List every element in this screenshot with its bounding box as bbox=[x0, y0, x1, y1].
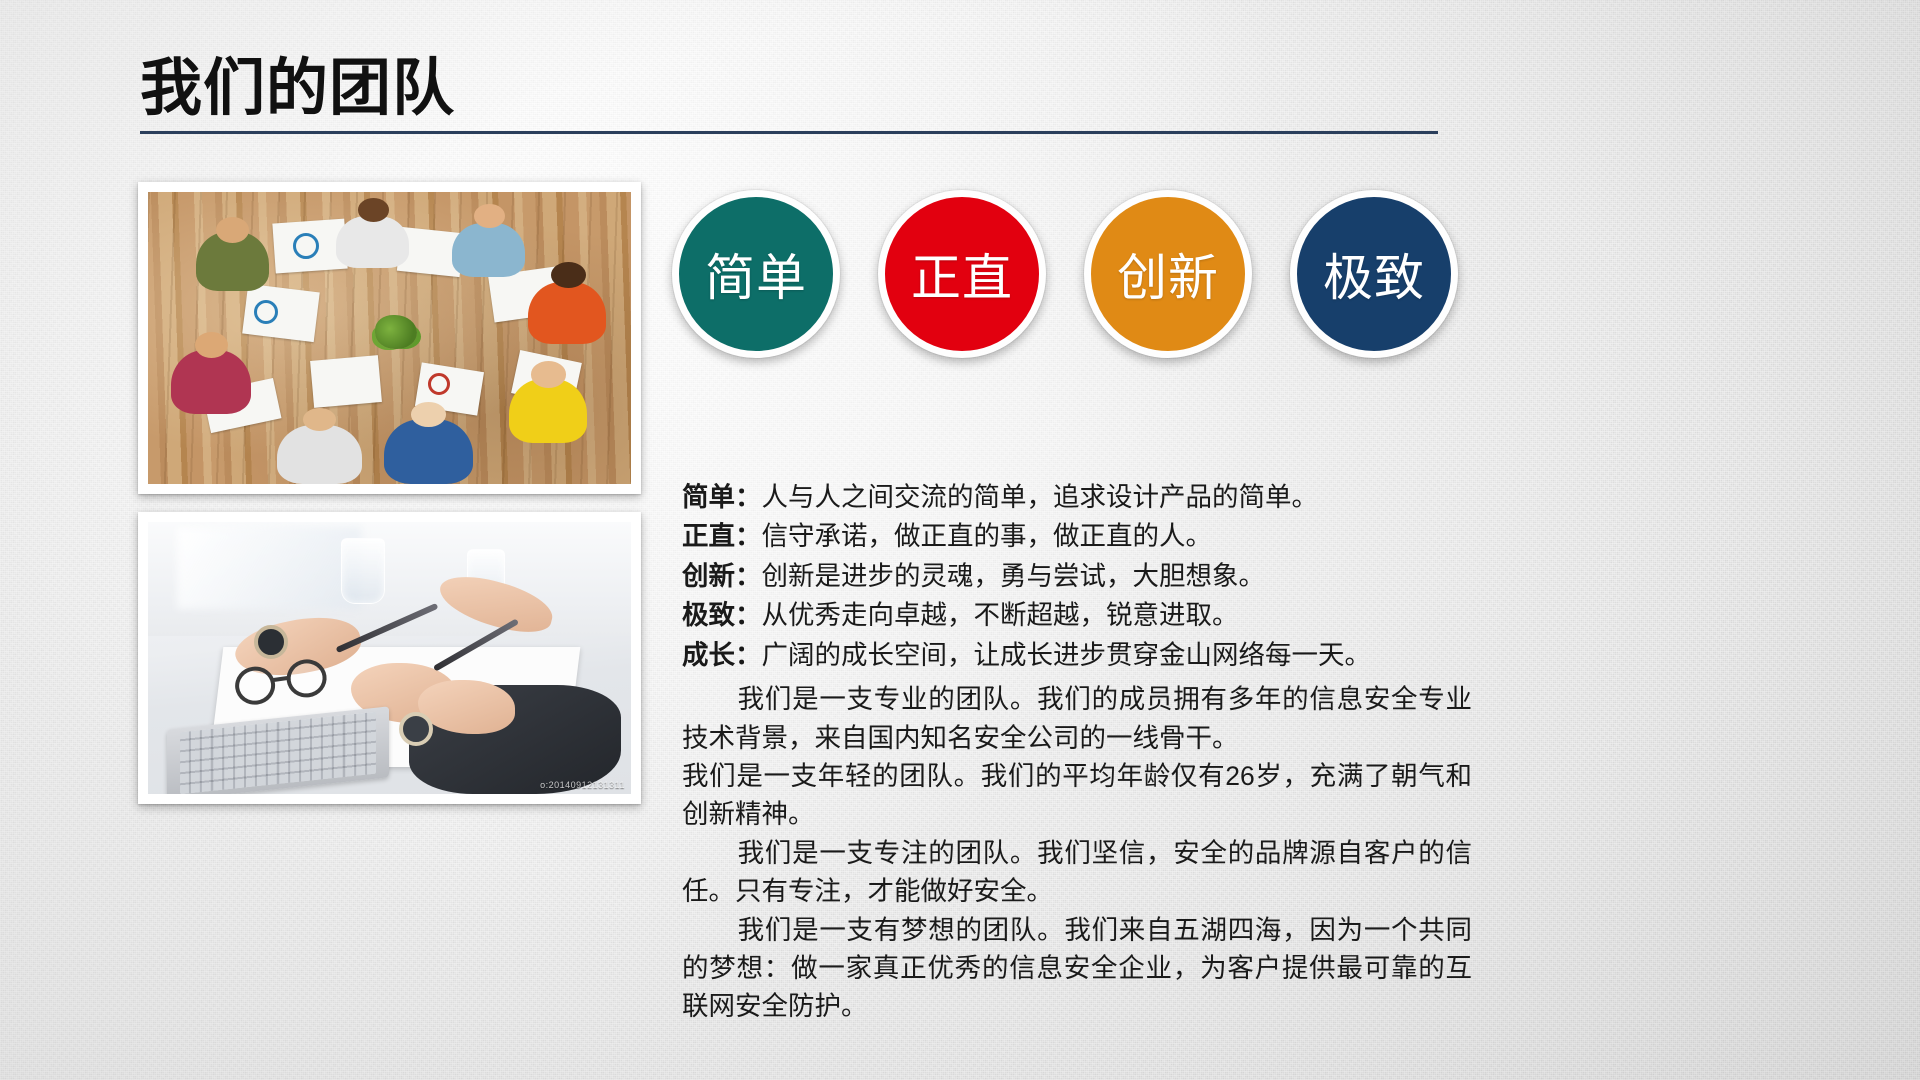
photo-team-meeting-image bbox=[148, 192, 631, 484]
title-block: 我们的团队 bbox=[140, 56, 1760, 134]
body-text: 简单：人与人之间交流的简单，追求设计产品的简单。 正直：信守承诺，做正直的事，做… bbox=[682, 478, 1472, 1026]
person bbox=[332, 198, 414, 268]
person bbox=[380, 402, 477, 484]
value-description: 信守承诺，做正直的事，做正直的人。 bbox=[762, 521, 1213, 551]
photo-business-hands: o:20140912131311 bbox=[138, 512, 641, 804]
value-term: 极致 bbox=[682, 600, 735, 630]
chart-graphic bbox=[293, 233, 319, 259]
value-term: 成长 bbox=[682, 640, 735, 670]
title-divider bbox=[140, 131, 1438, 134]
value-description: 广阔的成长空间，让成长进步贯穿金山网络每一天。 bbox=[762, 640, 1372, 670]
value-circle-label: 正直 bbox=[911, 238, 1013, 310]
value-separator: ： bbox=[735, 482, 762, 512]
value-description: 人与人之间交流的简单，追求设计产品的简单。 bbox=[762, 482, 1319, 512]
value-circle-label: 简单 bbox=[705, 238, 807, 310]
photo-team-meeting bbox=[138, 182, 641, 494]
paragraph-professional: 我们是一支专业的团队。我们的成员拥有多年的信息安全专业技术背景，来自国内知名安全… bbox=[682, 680, 1472, 757]
value-circle-simple[interactable]: 简单 bbox=[672, 190, 840, 358]
value-term: 简单 bbox=[682, 482, 735, 512]
value-description: 创新是进步的灵魂，勇与尝试，大胆想象。 bbox=[762, 561, 1266, 591]
paragraph-focused: 我们是一支专注的团队。我们坚信，安全的品牌源自客户的信任。只有专注，才能做好安全… bbox=[682, 834, 1472, 911]
value-circles-row: 简单 正直 创新 极致 bbox=[672, 190, 1472, 358]
page-title: 我们的团队 bbox=[140, 56, 1760, 121]
value-circle-integrity[interactable]: 正直 bbox=[878, 190, 1046, 358]
person bbox=[191, 215, 273, 291]
value-circle-label: 极致 bbox=[1323, 238, 1425, 310]
water-glass bbox=[341, 538, 384, 603]
value-separator: ： bbox=[735, 521, 762, 551]
plant-decoration bbox=[375, 315, 417, 349]
value-line-simple: 简单：人与人之间交流的简单，追求设计产品的简单。 bbox=[682, 478, 1472, 516]
value-line-innovation: 创新：创新是进步的灵魂，勇与尝试，大胆想象。 bbox=[682, 557, 1472, 595]
value-circle-innovation[interactable]: 创新 bbox=[1084, 190, 1252, 358]
person bbox=[447, 204, 529, 277]
value-circle-label: 创新 bbox=[1117, 238, 1219, 310]
value-line-growth: 成长：广阔的成长空间，让成长进步贯穿金山网络每一天。 bbox=[682, 636, 1472, 674]
person bbox=[505, 361, 592, 443]
paragraph-young: 我们是一支年轻的团队。我们的平均年龄仅有26岁，充满了朝气和创新精神。 bbox=[682, 757, 1472, 834]
value-separator: ： bbox=[735, 600, 762, 630]
window-light bbox=[177, 527, 361, 609]
value-circle-excellence[interactable]: 极致 bbox=[1290, 190, 1458, 358]
value-term: 创新 bbox=[682, 561, 735, 591]
paper-sheet bbox=[310, 356, 381, 408]
eyeglasses-lens bbox=[284, 657, 329, 700]
value-separator: ： bbox=[735, 561, 762, 591]
person bbox=[274, 408, 366, 484]
value-line-excellence: 极致：从优秀走向卓越，不断超越，锐意进取。 bbox=[682, 596, 1472, 634]
photo-business-hands-image: o:20140912131311 bbox=[148, 522, 631, 794]
person bbox=[167, 332, 254, 414]
value-description: 从优秀走向卓越，不断超越，锐意进取。 bbox=[762, 600, 1239, 630]
paragraph-block: 我们是一支专业的团队。我们的成员拥有多年的信息安全专业技术背景，来自国内知名安全… bbox=[682, 680, 1472, 1026]
value-line-integrity: 正直：信守承诺，做正直的事，做正直的人。 bbox=[682, 517, 1472, 555]
person bbox=[525, 262, 612, 344]
value-separator: ： bbox=[735, 640, 762, 670]
eyeglasses-lens bbox=[233, 664, 278, 707]
paragraph-dreaming: 我们是一支有梦想的团队。我们来自五湖四海，因为一个共同的梦想：做一家真正优秀的信… bbox=[682, 911, 1472, 1026]
chart-graphic bbox=[428, 373, 450, 395]
value-term: 正直 bbox=[682, 521, 735, 551]
